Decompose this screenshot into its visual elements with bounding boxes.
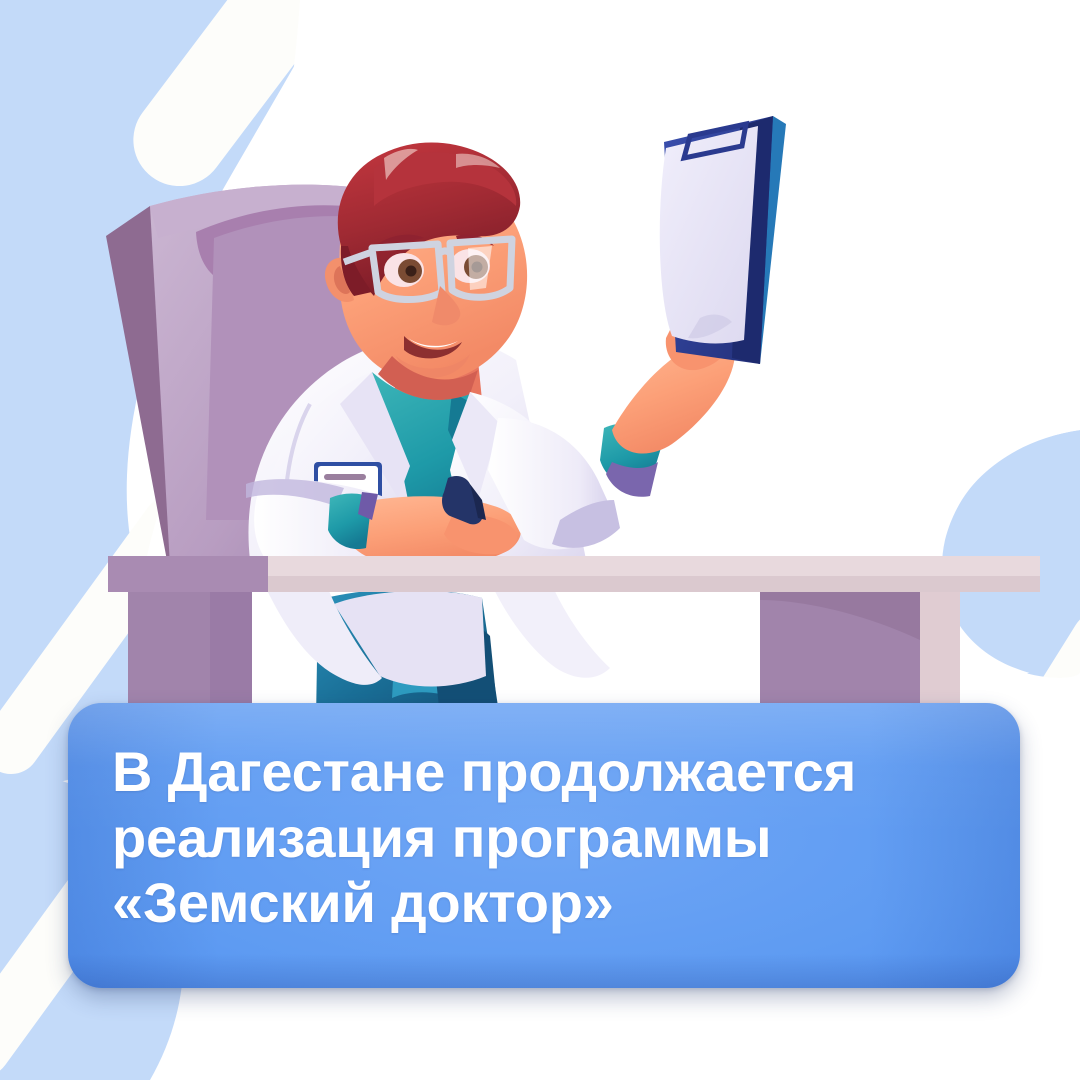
announcement-card: В Дагестане продолжается реализация прог… xyxy=(0,0,1080,1080)
clipboard-paper xyxy=(660,126,758,343)
headline-line-3: «Земский доктор» xyxy=(112,870,992,936)
desk-right-leg-front xyxy=(920,592,960,720)
headline-banner: В Дагестане продолжается реализация прог… xyxy=(68,703,1020,988)
desk-left-leg-shade xyxy=(210,592,252,720)
raised-arm-group xyxy=(488,116,786,549)
headline-line-2: реализация программы xyxy=(112,805,992,871)
doctor-lower-body xyxy=(260,570,610,720)
clipboard xyxy=(660,116,786,364)
pupil-left xyxy=(406,266,417,277)
glasses-bridge xyxy=(438,251,450,254)
headline-line-1: В Дагестане продолжается xyxy=(112,739,992,805)
desk-left-apron xyxy=(108,556,268,592)
headline-text: В Дагестане продолжается реализация прог… xyxy=(112,739,992,936)
